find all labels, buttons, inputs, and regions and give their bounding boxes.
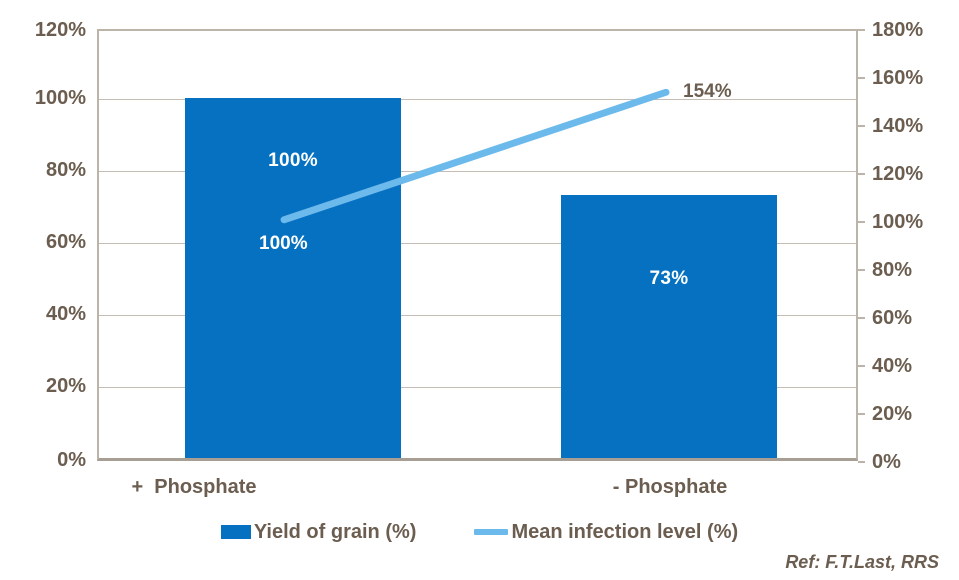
legend-item-infection[interactable]: Mean infection level (%) xyxy=(474,521,738,544)
left-axis-tick: 120% xyxy=(35,20,86,40)
bar-value-label: 73% xyxy=(561,268,777,290)
legend-label-yield: Yield of grain (%) xyxy=(254,521,417,544)
line-value-label-phosphate-plus: 100% xyxy=(259,233,308,255)
right-axis-tick: 20% xyxy=(872,404,912,424)
left-axis-tick: 0% xyxy=(57,450,86,470)
right-axis-tick: 100% xyxy=(872,212,923,232)
tick-mark xyxy=(858,461,865,463)
right-axis-tick: 180% xyxy=(872,20,923,40)
right-axis-tick: 80% xyxy=(872,260,912,280)
tick-mark xyxy=(858,29,865,31)
bar-value-label: 100% xyxy=(185,150,401,172)
tick-mark xyxy=(858,173,865,175)
bar-yield-phosphate-plus[interactable]: 100% xyxy=(185,98,401,458)
category-label-phosphate-plus: + Phosphate xyxy=(110,476,278,499)
bar-yield-phosphate-minus[interactable]: 73% xyxy=(561,195,777,458)
tick-mark xyxy=(858,77,865,79)
right-axis-tick: 160% xyxy=(872,68,923,88)
line-swatch-icon xyxy=(474,529,508,535)
left-axis-tick: 20% xyxy=(46,376,86,396)
right-axis-tick: 40% xyxy=(872,356,912,376)
left-axis-tick: 80% xyxy=(46,160,86,180)
tick-mark xyxy=(858,125,865,127)
chart-legend: Yield of grain (%) Mean infection level … xyxy=(0,517,959,547)
right-axis-tick: 120% xyxy=(872,164,923,184)
left-axis-tick: 60% xyxy=(46,232,86,252)
left-axis: 120% 100% 80% 60% 40% 20% 0% xyxy=(0,0,86,580)
right-axis: 180% 160% 140% 120% 100% 80% 60% 40% 20%… xyxy=(872,0,959,580)
plot-area: 100% 73% 100% 154% xyxy=(97,29,858,461)
right-axis-tick: 0% xyxy=(872,452,901,472)
right-axis-tick: 140% xyxy=(872,116,923,136)
tick-mark xyxy=(858,365,865,367)
tick-mark xyxy=(858,317,865,319)
tick-mark xyxy=(858,221,865,223)
left-axis-tick: 100% xyxy=(35,88,86,108)
bar-swatch-icon xyxy=(221,525,251,539)
legend-item-yield[interactable]: Yield of grain (%) xyxy=(221,521,417,544)
tick-mark xyxy=(858,413,865,415)
source-reference: Ref: F.T.Last, RRS xyxy=(785,552,939,573)
left-axis-tick: 40% xyxy=(46,304,86,324)
category-label-phosphate-minus: - Phosphate xyxy=(586,476,754,499)
chart-container: 120% 100% 80% 60% 40% 20% 0% 180% 160% 1… xyxy=(0,0,959,580)
line-value-label-phosphate-minus: 154% xyxy=(683,81,732,103)
right-axis-tick: 60% xyxy=(872,308,912,328)
legend-label-infection: Mean infection level (%) xyxy=(511,521,738,544)
tick-mark xyxy=(858,269,865,271)
